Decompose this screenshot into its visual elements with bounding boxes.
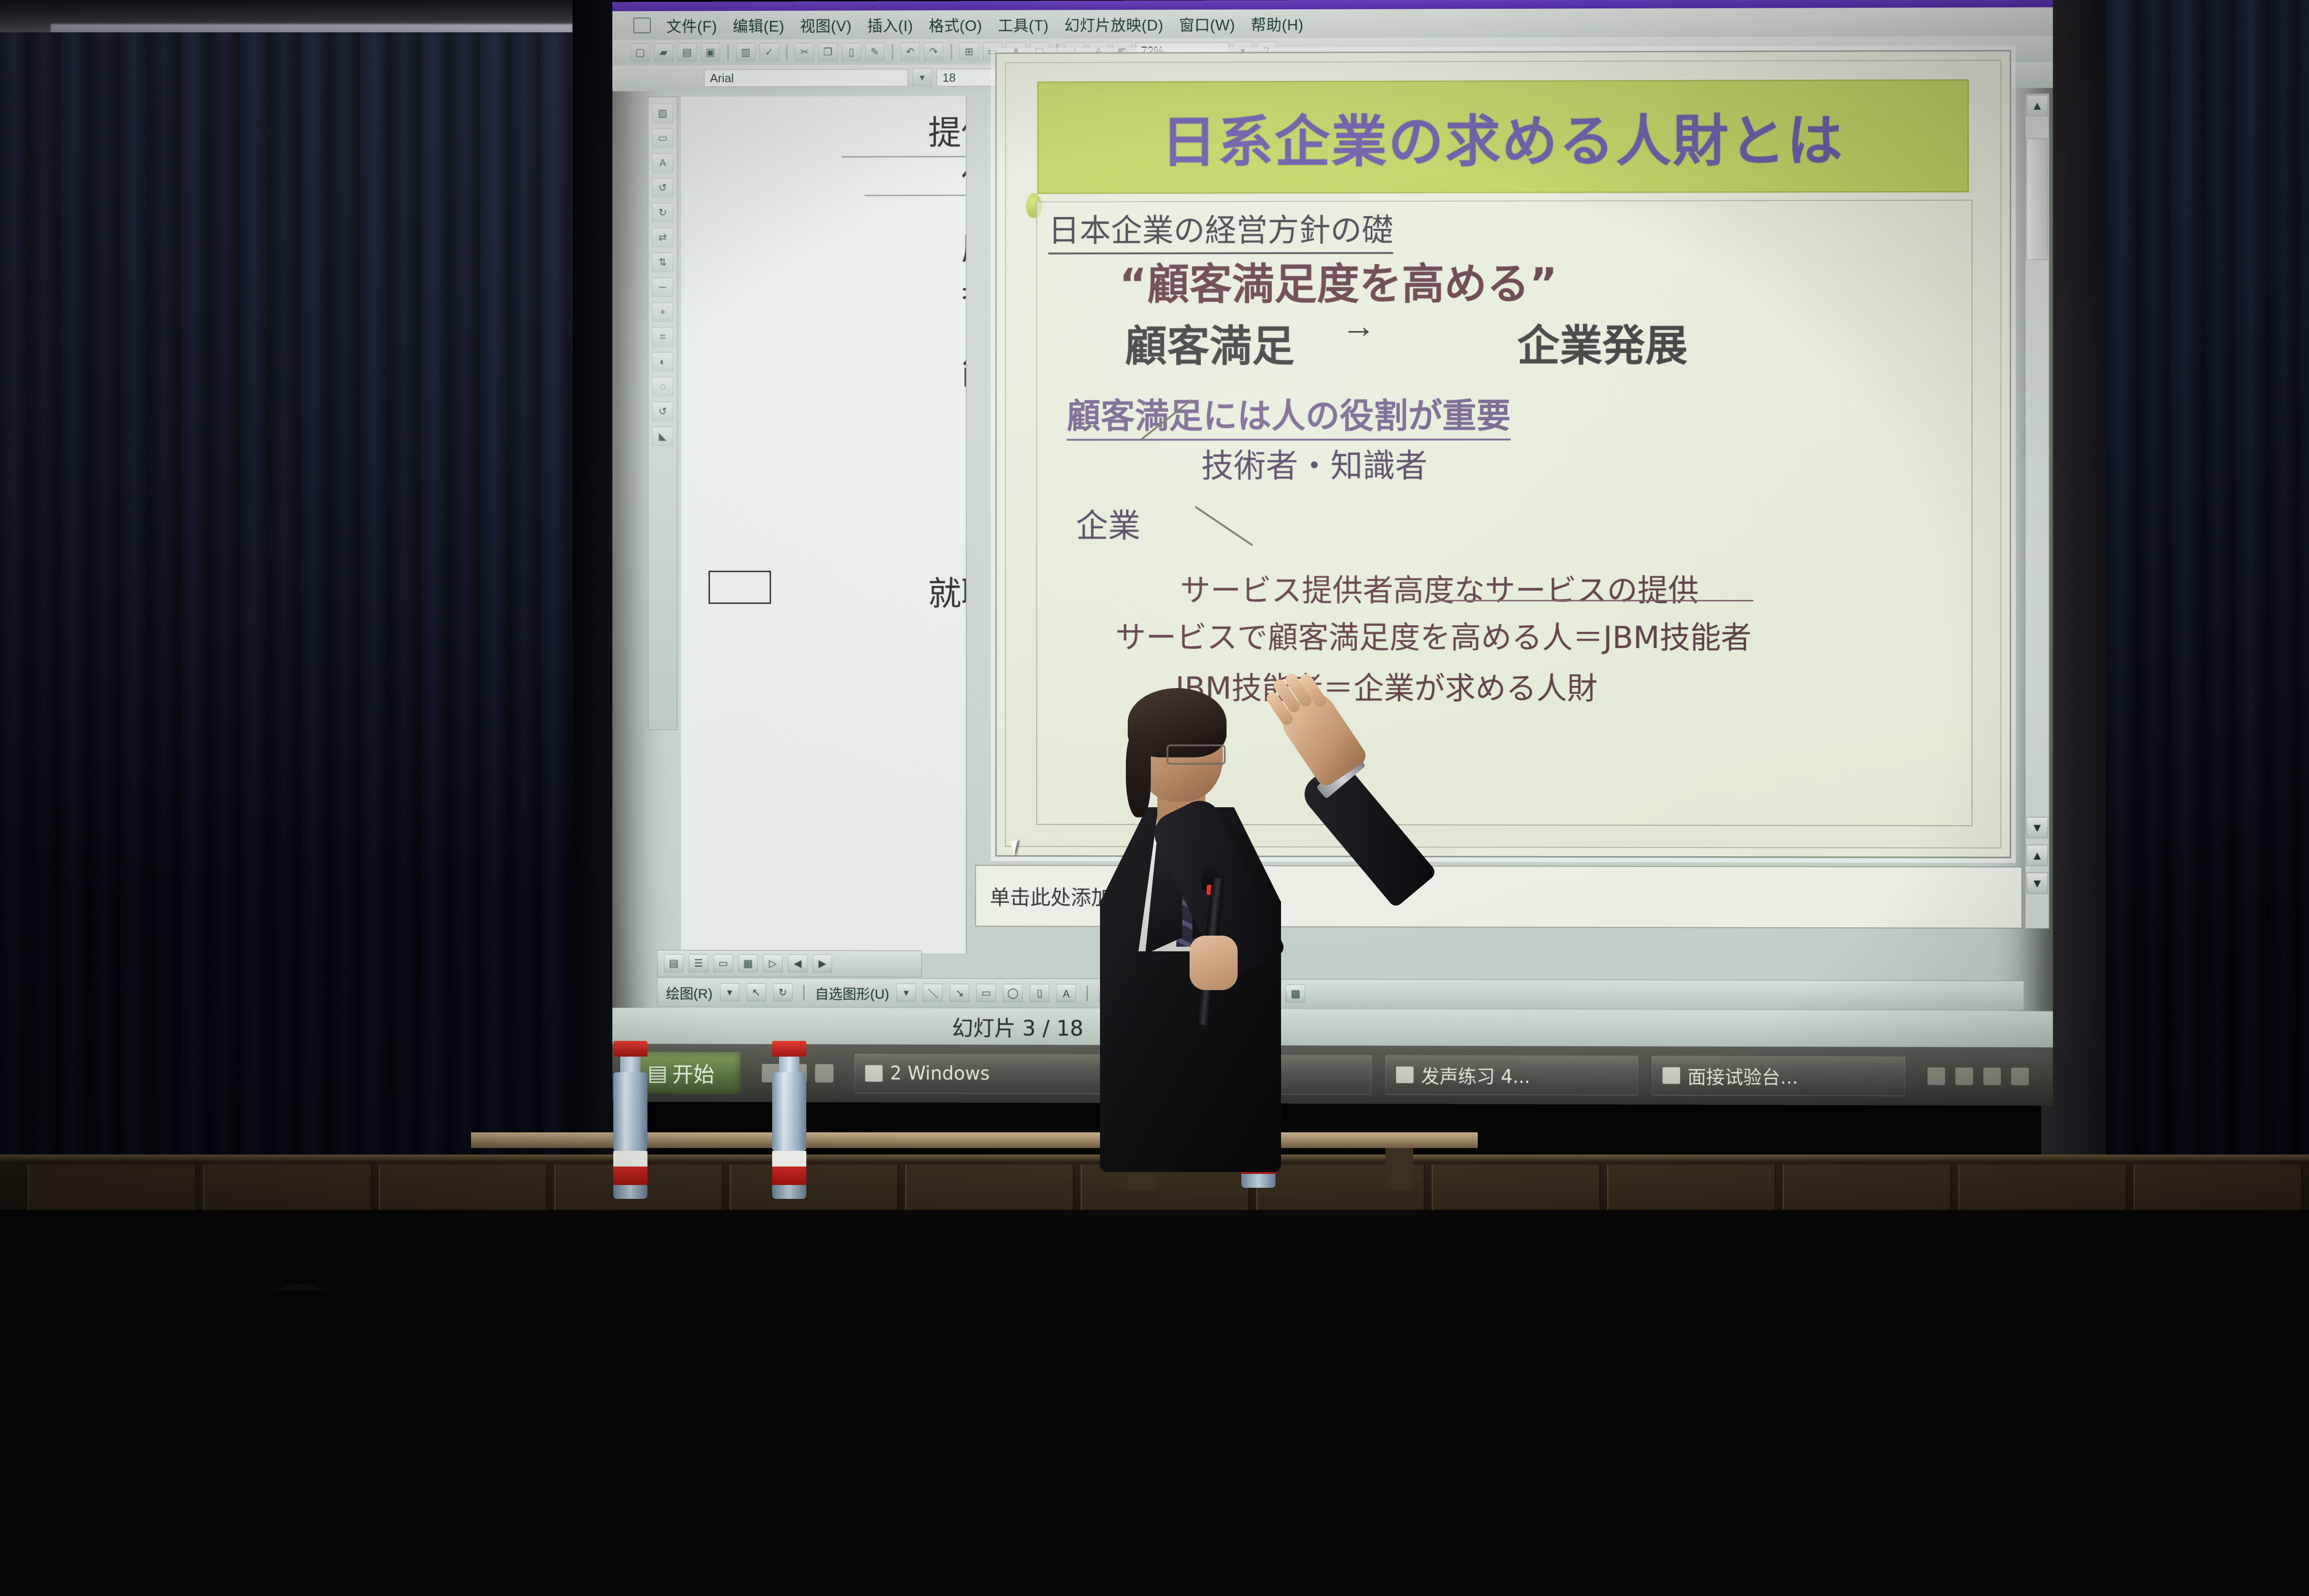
stage-curtain-left: [0, 32, 600, 1178]
taskbar-window-group[interactable]: 2 Windows: [855, 1053, 1106, 1094]
chevron-down-icon[interactable]: ▾: [896, 984, 916, 1002]
draw-menu-label[interactable]: 绘图(R): [666, 982, 713, 1003]
audience-head: [37, 1316, 134, 1432]
normal-view-icon[interactable]: ▤: [664, 954, 683, 973]
branch-line-lower: [1195, 506, 1253, 546]
font-name-dropdown[interactable]: Arial: [704, 69, 908, 87]
oval-icon[interactable]: ◯: [1003, 984, 1023, 1002]
bottle-neck: [620, 1057, 641, 1072]
outline-fragment[interactable]: 者: [961, 266, 967, 315]
paste-icon[interactable]: ▯: [842, 43, 861, 61]
menu-bar[interactable]: 文件(F) 编辑(E) 视图(V) 插入(I) 格式(O) 工具(T) 幻灯片放…: [612, 7, 2053, 40]
insert-table-icon[interactable]: ⊞: [960, 42, 979, 61]
spelling-icon[interactable]: ✓: [760, 43, 779, 61]
menu-item-slideshow[interactable]: 幻灯片放映(D): [1064, 13, 1163, 36]
bottle-cap: [613, 1041, 647, 1057]
vertical-scrollbar[interactable]: ▲ ▼ ▲ ▼: [2025, 93, 2049, 929]
taskbar-task-3[interactable]: 面接试验台...: [1652, 1056, 1905, 1096]
next-slide-button[interactable]: ▼: [2026, 872, 2048, 894]
bottle-base: [772, 1185, 806, 1199]
shadow-style-icon[interactable]: ◣: [652, 427, 673, 446]
scroll-up-arrow-icon[interactable]: ▲: [2026, 95, 2048, 116]
bottle-base: [1241, 1174, 1275, 1188]
start-flag-icon: ▤: [648, 1060, 668, 1085]
rotate-right-icon[interactable]: ↻: [652, 203, 673, 223]
presenter-glasses: [1167, 744, 1226, 765]
rotate-left-icon[interactable]: ↺: [652, 178, 673, 198]
taskbar-task-2[interactable]: 发声练习 4...: [1385, 1055, 1638, 1095]
slide-title-placeholder[interactable]: 日系企業の求める人財とは: [1037, 79, 1969, 194]
antivirus-icon[interactable]: [2011, 1068, 2029, 1085]
stage-curtain-right: [2106, 0, 2309, 1201]
new-icon[interactable]: ▢: [631, 43, 650, 62]
cut-icon[interactable]: ✂: [795, 43, 814, 61]
drawing-toolbar[interactable]: 绘图(R) ▾ ↖ ↻ 自选图形(U) ▾ ＼ ↘ ▭ ◯ ▯ Ａ ◆ ✎ Ａ …: [657, 978, 2024, 1010]
format-painter-icon[interactable]: ✎: [865, 43, 884, 61]
crop-icon[interactable]: ⌗: [652, 327, 673, 347]
taskbar-task-3-label: 面接试验台...: [1687, 1062, 1798, 1089]
presenter-hair-side: [1126, 730, 1151, 817]
powerpoint-icon: [1396, 1066, 1414, 1083]
outline-fragment[interactable]: 提供: [928, 105, 967, 154]
autoshapes-menu-label[interactable]: 自选图形(U): [815, 983, 889, 1003]
menu-item-tools[interactable]: 工具(T): [998, 13, 1049, 36]
taskbar-task-2-label: 发声练习 4...: [1421, 1062, 1530, 1089]
toolbar-separator: [786, 44, 787, 60]
bottle-cap: [772, 1041, 806, 1057]
menu-item-edit[interactable]: 编辑(E): [733, 14, 785, 36]
slide-line-conclusion-1: サービスで顧客満足度を高める人＝JBM技能者: [1116, 613, 1752, 658]
outline-fragment[interactable]: 度: [961, 220, 967, 269]
toolbar-separator: [951, 44, 952, 60]
system-tray[interactable]: [1928, 1057, 2039, 1095]
redo-icon[interactable]: ↷: [924, 42, 943, 61]
menu-item-help[interactable]: 帮助(H): [1251, 12, 1304, 35]
table-leg: [1385, 1148, 1413, 1190]
save-icon[interactable]: ▤: [677, 43, 697, 62]
audience-member: [490, 1348, 628, 1596]
print-icon[interactable]: ▣: [701, 43, 720, 61]
volume-icon[interactable]: [1928, 1067, 1945, 1085]
previous-slide-button[interactable]: ▲: [2026, 845, 2048, 866]
taskbar-window-group-label: 2 Windows: [890, 1063, 990, 1084]
select-icon[interactable]: ↖: [747, 983, 766, 1002]
presenter-hand-holding-mic: [1190, 936, 1238, 990]
line-icon[interactable]: ─: [652, 278, 673, 297]
slide-counter: 幻灯片 3 / 18: [952, 1011, 1083, 1042]
font-icon[interactable]: A: [652, 153, 673, 173]
outline-slide-thumb[interactable]: [708, 571, 771, 604]
toolbar-separator: [892, 44, 893, 60]
bottle-label: [772, 1151, 806, 1185]
menu-item-file[interactable]: 文件(F): [666, 14, 717, 36]
flip-vertical-icon[interactable]: ⇅: [652, 253, 673, 272]
start-label: 开始: [672, 1058, 714, 1088]
outline-fragment[interactable]: 供: [961, 151, 967, 199]
wordart-icon[interactable]: Ａ: [1057, 984, 1076, 1003]
menu-item-format[interactable]: 格式(O): [929, 13, 982, 36]
undo-icon[interactable]: ↶: [901, 42, 920, 61]
line-icon[interactable]: ＼: [923, 984, 943, 1002]
bottle-body: [613, 1072, 647, 1151]
audience-head: [2198, 1256, 2309, 1381]
slide-line-quote: “顧客満足度を高める”: [1119, 249, 1558, 311]
outline-divider: [842, 156, 967, 158]
lecture-hall-photo: 文件(F) 编辑(E) 视图(V) 插入(I) 格式(O) 工具(T) 幻灯片放…: [0, 0, 2309, 1596]
slide-title: 日系企業の求める人財とは: [1161, 96, 1844, 177]
print-preview-icon[interactable]: ▥: [736, 43, 756, 61]
next-slide-icon[interactable]: ▶: [813, 955, 832, 973]
audience-head: [249, 1284, 351, 1404]
copy-icon[interactable]: ❐: [818, 43, 838, 61]
slide-line-branch-top: 技術者・知識者: [1201, 440, 1427, 487]
scrollbar-thumb[interactable]: [2026, 139, 2048, 260]
transparent-color-icon[interactable]: ◌: [652, 377, 673, 396]
water-bottle: [772, 1041, 806, 1199]
presenter: [1076, 660, 1335, 1173]
powerpoint-icon: [1662, 1067, 1680, 1084]
media-icon[interactable]: [815, 1064, 834, 1082]
menu-item-view[interactable]: 视图(V): [800, 14, 852, 36]
contrast-icon[interactable]: ◐: [652, 352, 673, 371]
toolbar-separator: [727, 44, 729, 60]
bottle-neck: [779, 1057, 799, 1072]
theater-seat: [1154, 1362, 1339, 1596]
picture-toolbar[interactable]: ▨ ▭ A ↺ ↻ ⇄ ⇅ ─ + ⌗ ◐ ◌ ↺ ◣: [648, 97, 677, 730]
font-size-dropdown[interactable]: 18: [937, 69, 997, 86]
outline-pane[interactable]: 提供 供 度 者 能 就職: [681, 96, 967, 954]
free-rotate-icon[interactable]: ↻: [773, 983, 792, 1002]
view-buttons-bar[interactable]: ▤ ☰ ▭ ▦ ▷ ◀ ▶: [657, 950, 922, 977]
audience-head: [1653, 1265, 1769, 1395]
outline-divider: [864, 194, 967, 196]
rectangle-icon[interactable]: ▭: [977, 984, 996, 1002]
slide-line-emphasis: 顧客満足には人の役割が重要: [1067, 388, 1511, 441]
desk-sign: [903, 1515, 957, 1557]
menu-item-window[interactable]: 窗口(W): [1179, 13, 1235, 35]
theater-seat: [1986, 1348, 2194, 1596]
open-icon[interactable]: ▰: [654, 43, 673, 62]
plus-icon[interactable]: +: [652, 302, 673, 322]
branch-bottom-underline: [1434, 600, 1753, 601]
outline-fragment[interactable]: 就職: [928, 566, 967, 615]
bottle-body: [772, 1072, 806, 1151]
slide-line-branch-bottom: サービス提供者高度なサービスの提供: [1180, 566, 1699, 610]
slide-equation-arrow-icon: →: [1342, 306, 1376, 345]
water-bottle: [613, 1041, 647, 1199]
reset-picture-icon[interactable]: ↺: [652, 402, 673, 421]
toolbar-separator: [803, 985, 804, 1000]
slide-line-equation-right: 企業発展: [1517, 311, 1687, 373]
picture-icon[interactable]: ▨: [652, 103, 673, 123]
slide-sorter-icon[interactable]: ▦: [738, 954, 758, 973]
window-control-icon[interactable]: [633, 18, 651, 33]
slide-line-branch-label: 企業: [1076, 500, 1141, 547]
text-box-icon[interactable]: ▭: [652, 128, 673, 148]
outline-fragment[interactable]: 能: [961, 345, 967, 393]
text-box-icon[interactable]: ▯: [1030, 984, 1049, 1003]
audience-area: [0, 1210, 2309, 1596]
slide-view-icon[interactable]: ▭: [713, 954, 733, 973]
bottle-label: [613, 1151, 647, 1185]
bottle-base: [613, 1185, 647, 1199]
menu-item-insert[interactable]: 插入(I): [867, 13, 913, 36]
audience-yellow-item: [2041, 1247, 2100, 1287]
chevron-down-icon[interactable]: ▾: [913, 68, 932, 87]
ime-icon[interactable]: [1983, 1068, 2001, 1085]
chevron-down-icon[interactable]: ▾: [720, 983, 739, 1002]
arrow-icon[interactable]: ↘: [950, 984, 969, 1002]
slide-show-icon[interactable]: ▷: [763, 954, 783, 973]
network-icon[interactable]: [1955, 1068, 1973, 1085]
folder-icon: [865, 1065, 882, 1082]
prev-slide-icon[interactable]: ◀: [788, 955, 807, 973]
flip-horizontal-icon[interactable]: ⇄: [652, 228, 673, 247]
slide-line-heading: 日本企業の経営方針の礎: [1048, 205, 1393, 254]
slide-line-equation-left: 顧客満足: [1124, 312, 1294, 373]
scroll-down-arrow-icon[interactable]: ▼: [2026, 817, 2048, 838]
outline-view-icon[interactable]: ☰: [689, 954, 708, 973]
